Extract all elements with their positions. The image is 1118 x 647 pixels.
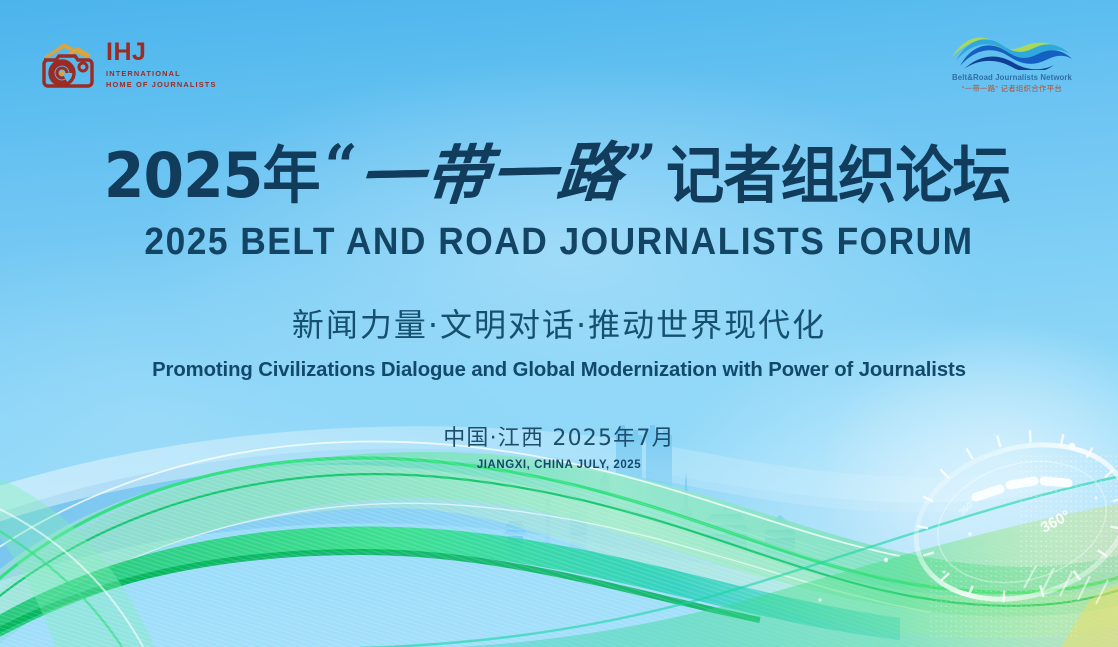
ihj-line2: HOME OF JOURNALISTS [106,79,217,90]
tech-dial-label: 360° [1038,507,1073,537]
place-date-chinese: 中国·江西 2025年7月 [0,420,1118,452]
title-cn-prefix: 2025年 [104,145,320,207]
svg-text:360°: 360° [957,497,978,517]
camera-house-icon [38,40,96,90]
title-chinese: 2025年 “ 一带一路 ” 记者组织论坛 [0,140,1118,212]
title-cn-quote-close: ” [624,140,657,192]
ihj-abbr: IHJ [106,40,217,65]
title-cn-calligraphy: 一带一路 [353,141,629,211]
wave-ribbon-icon [950,30,1074,70]
headline-block: 2025年 “ 一带一路 ” 记者组织论坛 2025 BELT AND ROAD… [0,140,1118,471]
brjn-logo: Belt&Road Journalists Network “一带一路” 记者组… [942,30,1082,93]
tagline-english: Promoting Civilizations Dialogue and Glo… [6,358,1113,382]
ihj-wordmark: IHJ INTERNATIONAL HOME OF JOURNALISTS [106,40,217,90]
title-cn-suffix: 记者组织论坛 [666,145,1010,207]
brjn-english: Belt&Road Journalists Network [942,73,1082,83]
forum-poster: 360° 360° [0,0,1118,647]
brjn-chinese: “一带一路” 记者组织合作平台 [942,84,1082,94]
ihj-line1: INTERNATIONAL [106,68,217,79]
place-date-english: JIANGXI, CHINA JULY, 2025 [0,459,1118,471]
ihj-logo: IHJ INTERNATIONAL HOME OF JOURNALISTS [38,40,217,90]
title-english: 2025 BELT AND ROAD JOURNALISTS FORUM [39,221,1079,264]
title-cn-quote-open: “ [324,140,357,192]
tagline-chinese: 新闻力量·文明对话·推动世界现代化 [0,300,1118,346]
